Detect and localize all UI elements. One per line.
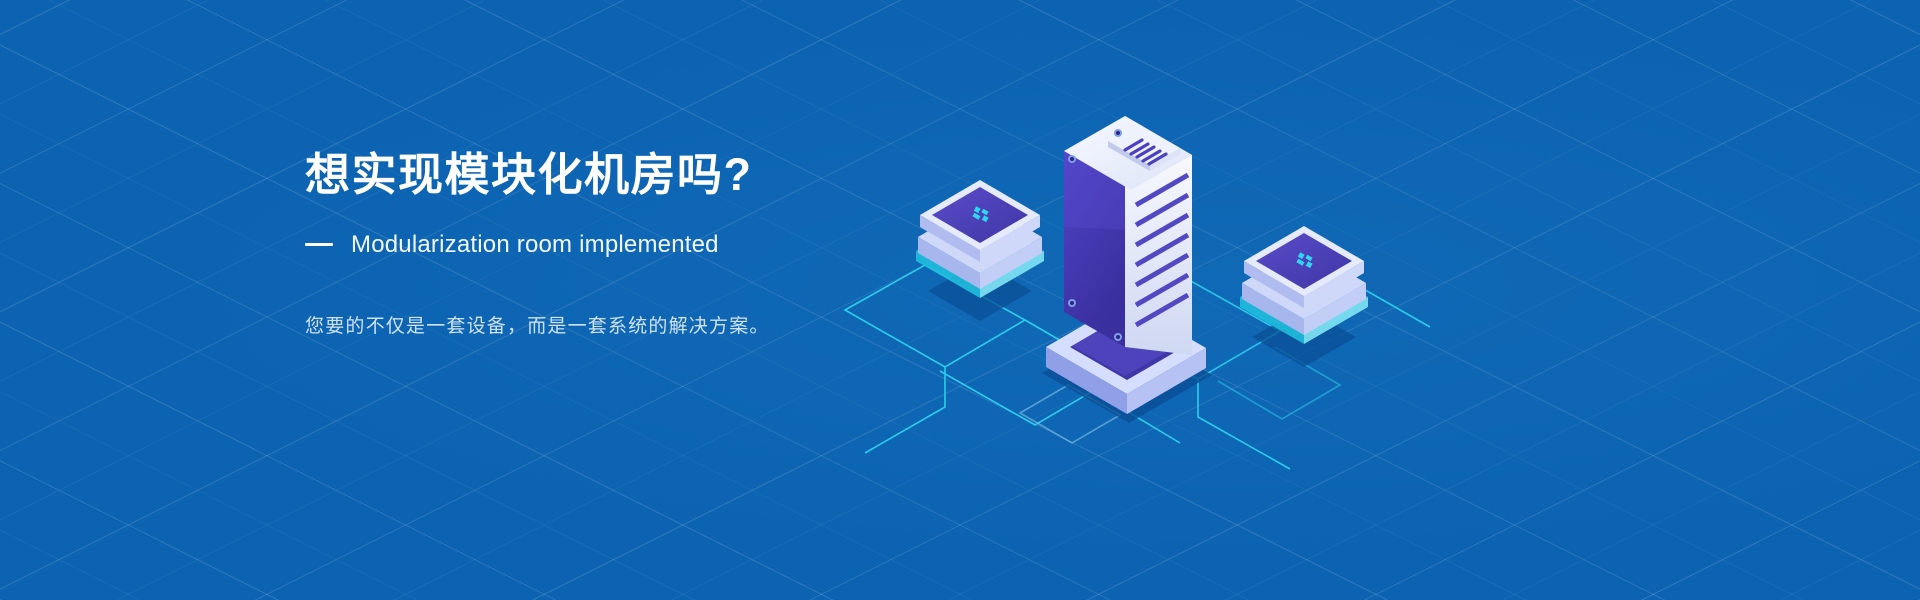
subheadline: Modularization room implemented — [351, 231, 719, 259]
isometric-server-illustration — [820, 55, 1440, 475]
chip-module-right — [1240, 226, 1368, 367]
chip-module-left — [916, 180, 1044, 321]
dash-icon — [305, 243, 333, 246]
server-tower — [1042, 116, 1212, 423]
hero-banner: 想实现模块化机房吗? Modularization room implement… — [0, 0, 1920, 600]
